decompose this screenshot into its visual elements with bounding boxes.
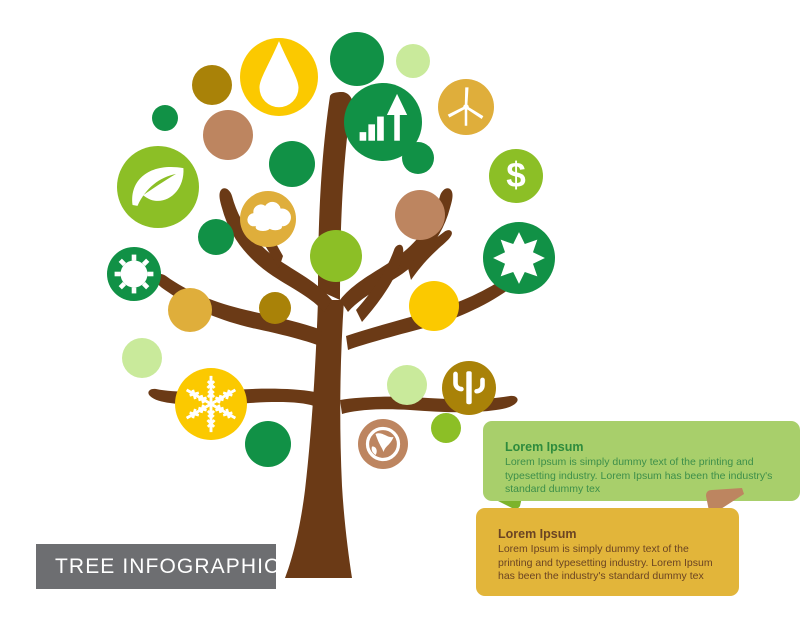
decorative-circle [122,338,162,378]
cloud-icon[interactable] [240,191,296,247]
svg-text:$: $ [506,156,526,195]
decorative-circle [330,32,384,86]
decorative-circle [395,190,445,240]
cactus-icon[interactable] [442,361,496,415]
water-drop-icon[interactable] [240,38,318,116]
decorative-circle [259,292,291,324]
growth-chart-icon[interactable] [344,83,422,161]
decorative-circle [431,413,461,443]
snowflake-icon[interactable] [175,368,247,440]
title-banner: TREE INFOGRAPHIC [36,544,276,589]
decorative-circle [203,110,253,160]
page-title: TREE INFOGRAPHIC [36,555,280,579]
tree-branches [148,92,521,578]
decorative-circle [192,65,232,105]
decorative-circle [245,421,291,467]
decorative-circle [198,219,234,255]
decorative-circle [152,105,178,131]
gear-icon[interactable] [107,247,161,301]
decorative-circle [387,365,427,405]
decorative-circle [168,288,212,332]
dollar-icon[interactable]: $ [489,149,543,203]
callout-green-heading: Lorem Ipsum [505,439,778,455]
callout-yellow-body: Lorem Ipsum is simply dummy text of the … [498,543,717,584]
globe-icon[interactable] [358,419,408,469]
decorative-circle [310,230,362,282]
decorative-circle [409,281,459,331]
callout-yellow[interactable]: Lorem Ipsum Lorem Ipsum is simply dummy … [476,508,739,596]
infographic-canvas: $ [0,0,800,623]
sun-icon[interactable] [483,222,555,294]
wind-turbine-icon[interactable] [438,79,494,135]
decorative-circle [396,44,430,78]
decorative-circle [269,141,315,187]
callout-yellow-heading: Lorem Ipsum [498,526,717,542]
leaf-icon[interactable] [117,146,199,228]
